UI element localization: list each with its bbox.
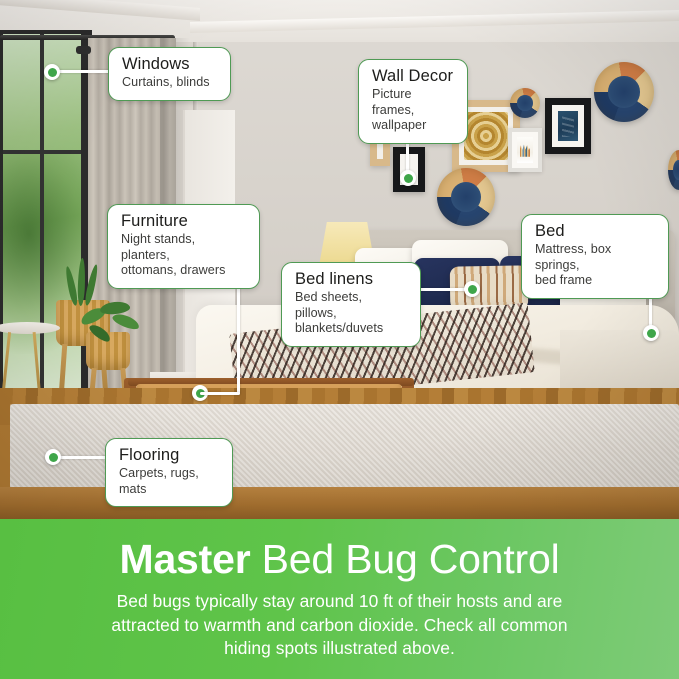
banner-title: Master Bed Bug Control [0, 538, 679, 581]
callout-flooring[interactable]: Flooring Carpets, rugs, mats [105, 438, 233, 507]
banner-body-text: Bed bugs typically stay around 10 ft of … [40, 590, 640, 659]
callout-title: Bed [535, 222, 655, 240]
callout-subtitle: Picture frames, wallpaper [372, 87, 454, 133]
callout-subtitle: Curtains, blinds [122, 75, 217, 90]
callout-title: Furniture [121, 212, 246, 230]
hotspot-dot-windows[interactable] [44, 64, 60, 80]
callout-title: Windows [122, 55, 217, 73]
hotspot-dot-wall-decor[interactable] [400, 170, 416, 186]
hotspot-dot-bed[interactable] [643, 325, 659, 341]
banner-title-bold: Master [119, 536, 250, 582]
callout-windows[interactable]: Windows Curtains, blinds [108, 47, 231, 101]
callout-subtitle: Night stands, planters, ottomans, drawer… [121, 232, 246, 278]
callout-subtitle: Mattress, box springs, bed frame [535, 242, 655, 288]
infographic-stage: Windows Curtains, blinds Wall Decor Pict… [0, 0, 679, 679]
callout-title: Flooring [119, 446, 219, 464]
hotspot-dot-bed-linens[interactable] [464, 281, 480, 297]
callout-title: Wall Decor [372, 67, 454, 85]
callout-title: Bed linens [295, 270, 407, 288]
callout-bed[interactable]: Bed Mattress, box springs, bed frame [521, 214, 669, 299]
connector-windows [58, 70, 114, 73]
bottom-banner: Master Bed Bug Control Bed bugs typicall… [0, 519, 679, 679]
callout-bed-linens[interactable]: Bed linens Bed sheets, pillows, blankets… [281, 262, 421, 347]
callout-subtitle: Carpets, rugs, mats [119, 466, 219, 497]
callout-furniture[interactable]: Furniture Night stands, planters, ottoma… [107, 204, 260, 289]
callout-wall-decor[interactable]: Wall Decor Picture frames, wallpaper [358, 59, 468, 144]
banner-title-rest: Bed Bug Control [250, 536, 559, 582]
callout-subtitle: Bed sheets, pillows, blankets/duvets [295, 290, 407, 336]
connector-furniture-horizontal [200, 392, 240, 395]
hotspot-dot-flooring[interactable] [45, 449, 61, 465]
